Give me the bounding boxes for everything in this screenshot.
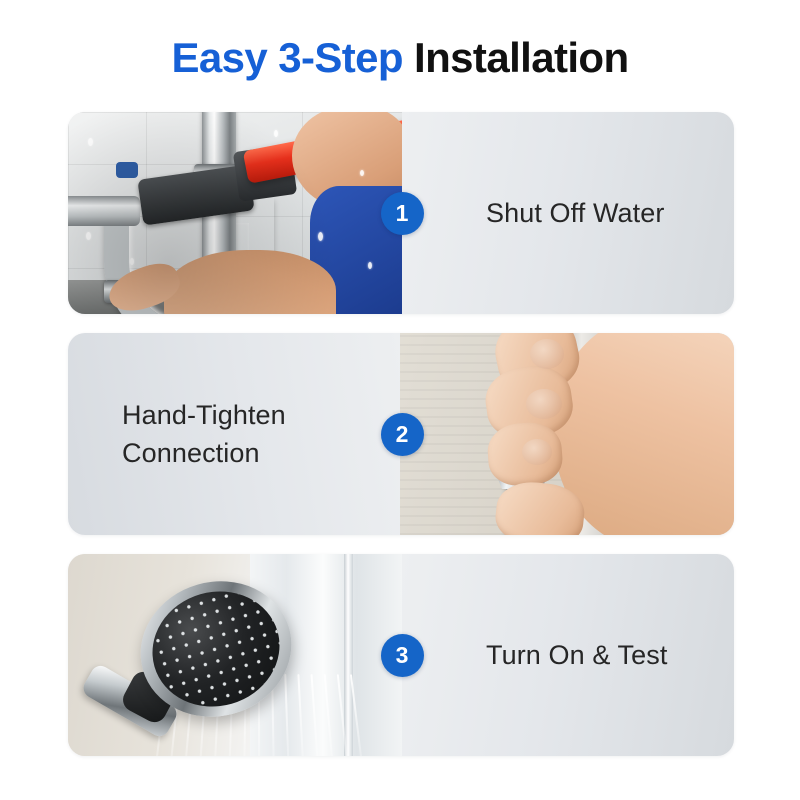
step-2-label-line-1: Hand-Tighten (122, 400, 286, 430)
step-card-2: Hand-Tighten Connection 2 (68, 333, 734, 535)
step-1-text-pane: Shut Off Water (402, 112, 734, 314)
step-3-badge: 3 (381, 634, 424, 677)
step-1-badge: 1 (381, 192, 424, 235)
step-3-image (68, 554, 402, 756)
step-1-label: Shut Off Water (486, 194, 664, 232)
page-title: Easy 3-Step Installation (0, 34, 800, 82)
infographic-page: Easy 3-Step Installation (0, 0, 800, 800)
step-2-label-line-2: Connection (122, 438, 260, 468)
page-title-plain: Installation (403, 34, 629, 81)
step-3-text-pane: Turn On & Test (402, 554, 734, 756)
steps-list: Shut Off Water 1 (68, 112, 734, 775)
step-2-label: Hand-Tighten Connection (122, 396, 286, 473)
step-2-text-pane: Hand-Tighten Connection (68, 333, 400, 535)
step-card-3: Turn On & Test 3 (68, 554, 734, 756)
step-2-badge: 2 (381, 413, 424, 456)
step-2-image (400, 333, 734, 535)
step-3-label: Turn On & Test (486, 636, 667, 674)
step-card-1: Shut Off Water 1 (68, 112, 734, 314)
page-title-accent: Easy 3-Step (171, 34, 403, 81)
step-1-image (68, 112, 402, 314)
